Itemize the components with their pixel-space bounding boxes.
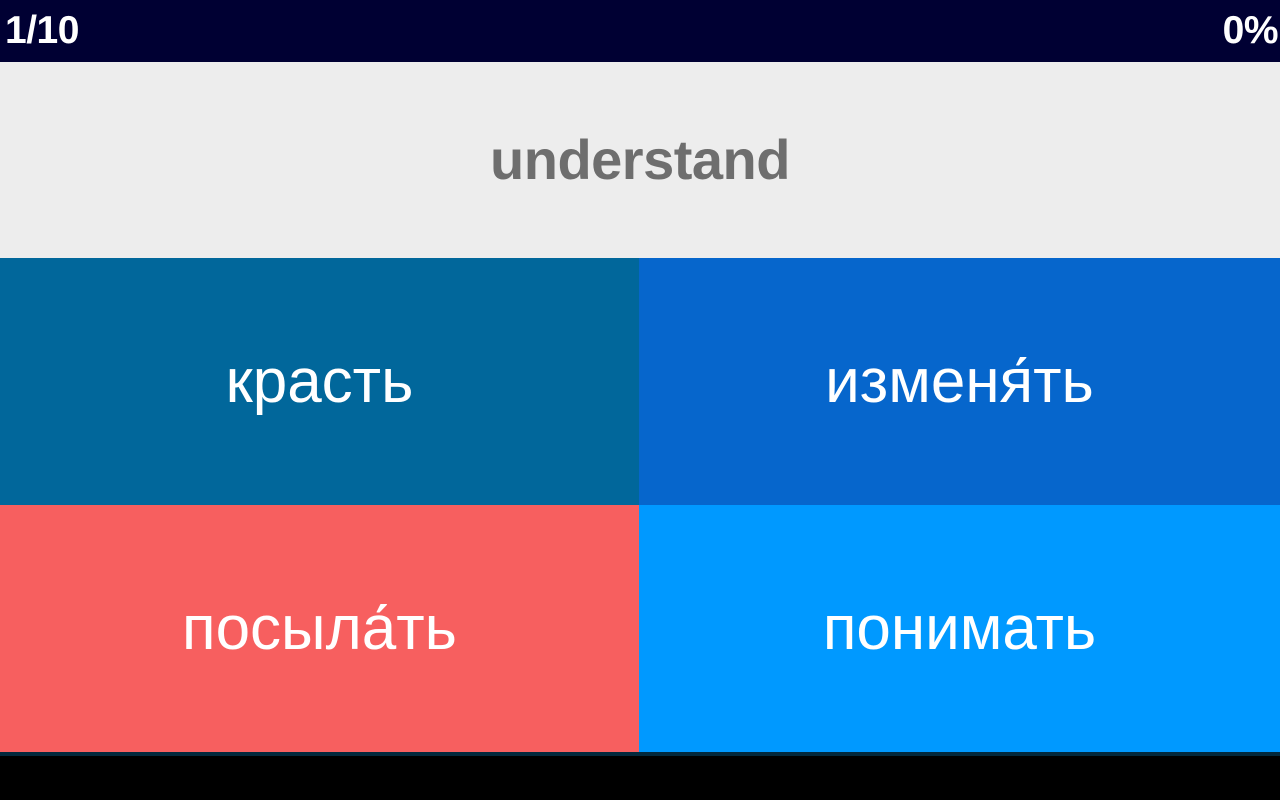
score-percent: 0% bbox=[1223, 0, 1278, 62]
answer-tile-ponimat-label: понимать bbox=[823, 596, 1096, 661]
answer-tile-izmenyat-label: изменя́ть bbox=[825, 349, 1094, 414]
question-counter: 1/10 bbox=[5, 0, 79, 62]
answer-tile-izmenyat[interactable]: изменя́ть bbox=[639, 258, 1280, 505]
answer-tile-krast-label: красть bbox=[226, 349, 414, 414]
quiz-screen: 1/10 0% understand красть изменя́ть посы… bbox=[0, 0, 1280, 800]
status-bar: 1/10 0% bbox=[0, 0, 1280, 62]
answer-tile-krast[interactable]: красть bbox=[0, 258, 639, 505]
bottom-navigation-bar bbox=[0, 756, 1280, 800]
answer-grid: красть изменя́ть посыла́ть понимать bbox=[0, 258, 1280, 752]
prompt-area: understand bbox=[0, 62, 1280, 258]
answer-tile-posylat-label: посыла́ть bbox=[182, 596, 457, 661]
answer-tile-ponimat[interactable]: понимать bbox=[639, 505, 1280, 752]
answer-tile-posylat[interactable]: посыла́ть bbox=[0, 505, 639, 752]
prompt-word: understand bbox=[490, 129, 790, 191]
